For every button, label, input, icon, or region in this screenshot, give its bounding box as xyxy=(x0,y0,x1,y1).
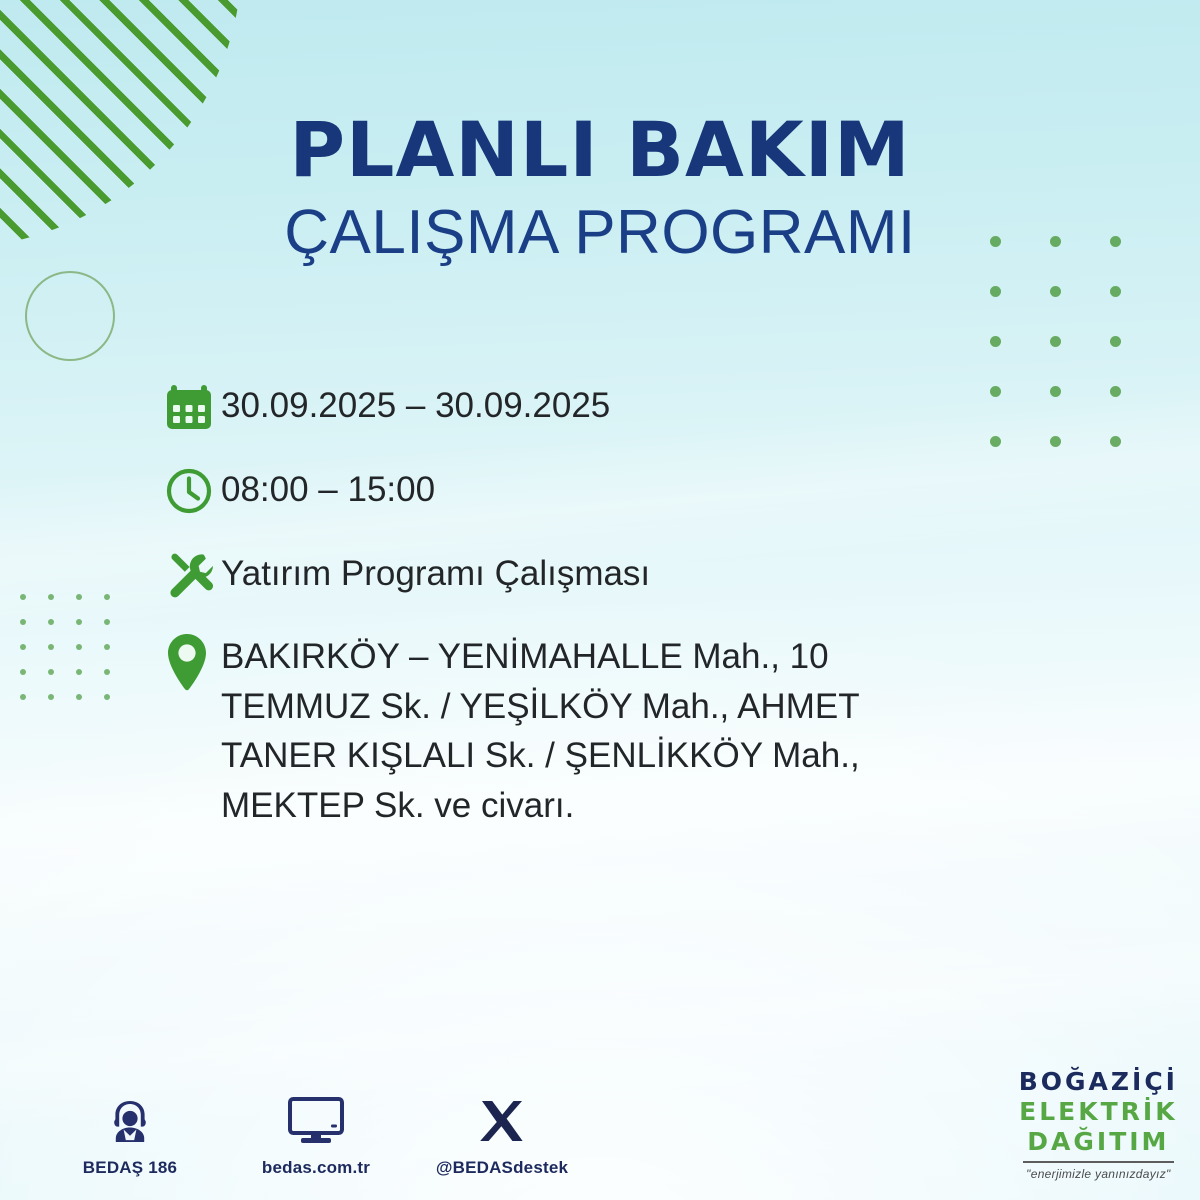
brand-tagline: "enerjimizle yanınızdayız" xyxy=(1019,1168,1178,1180)
footer-contact-bar: BEDAŞ 186 bedas.com.tr @BEDASdestek xyxy=(60,1093,572,1178)
tools-icon xyxy=(163,546,221,604)
location-pin-icon xyxy=(163,630,221,692)
info-row-location-text: BAKIRKÖY – YENİMAHALLE Mah., 10 TEMMUZ S… xyxy=(221,630,921,831)
brand-line-bogazici: BOĞAZİÇİ xyxy=(1019,1069,1178,1094)
clock-icon xyxy=(163,462,221,520)
info-row-time-text: 08:00 – 15:00 xyxy=(221,462,435,507)
page-subtitle: ÇALIŞMA PROGRAMI xyxy=(0,202,1200,264)
info-row-location: BAKIRKÖY – YENİMAHALLE Mah., 10 TEMMUZ S… xyxy=(163,630,1023,831)
info-row-date: 30.09.2025 – 30.09.2025 xyxy=(163,378,1023,436)
circle-outline-decoration xyxy=(25,271,115,361)
brand-line-elektrik: ELEKTRİK xyxy=(1019,1099,1178,1124)
brand-logo: BOĞAZİÇİ ELEKTRİK DAĞITIM "enerjimizle y… xyxy=(1019,1069,1178,1180)
poster-headings: PLANLI BAKIM ÇALIŞMA PROGRAMI xyxy=(0,112,1200,264)
footer-item-social-label: @BEDASdestek xyxy=(432,1158,572,1178)
footer-item-website[interactable]: bedas.com.tr xyxy=(246,1093,386,1178)
footer-item-social[interactable]: @BEDASdestek xyxy=(432,1093,572,1178)
brand-line-dagitim: DAĞITIM xyxy=(1019,1129,1178,1154)
x-social-icon xyxy=(432,1093,572,1149)
page-title: PLANLI BAKIM xyxy=(0,112,1200,188)
support-agent-icon xyxy=(60,1093,200,1149)
monitor-icon xyxy=(246,1093,386,1149)
poster-canvas: PLANLI BAKIM ÇALIŞMA PROGRAMI 30.09.2025… xyxy=(0,0,1200,1200)
info-row-time: 08:00 – 15:00 xyxy=(163,462,1023,520)
info-row-worktype: Yatırım Programı Çalışması xyxy=(163,546,1023,604)
brand-divider xyxy=(1023,1161,1174,1163)
calendar-icon xyxy=(163,378,221,436)
dot-grid-left xyxy=(20,594,132,719)
info-list: 30.09.2025 – 30.09.2025 08:00 – 15:00 xyxy=(163,378,1023,857)
info-row-worktype-text: Yatırım Programı Çalışması xyxy=(221,546,650,591)
footer-item-phone-label: BEDAŞ 186 xyxy=(60,1158,200,1178)
footer-item-phone[interactable]: BEDAŞ 186 xyxy=(60,1093,200,1178)
footer-item-website-label: bedas.com.tr xyxy=(246,1158,386,1178)
info-row-date-text: 30.09.2025 – 30.09.2025 xyxy=(221,378,610,423)
